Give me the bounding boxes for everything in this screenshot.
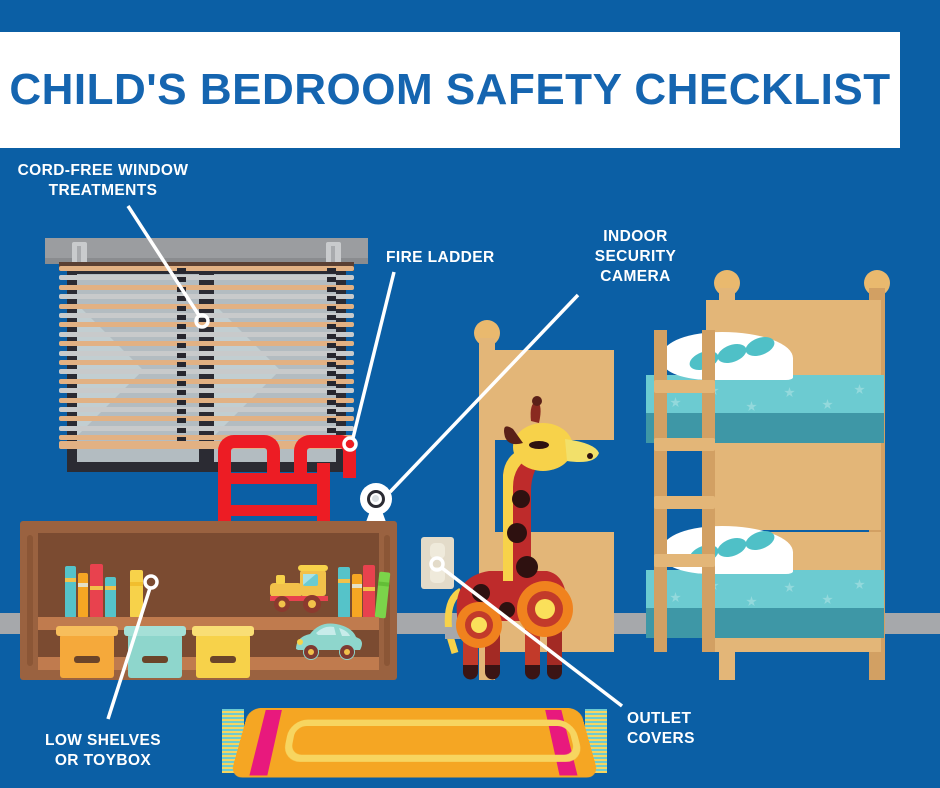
marker-shelves	[145, 576, 157, 588]
leader-cord-free	[128, 206, 200, 317]
leader-camera	[390, 295, 578, 492]
label-line: FIRE LADDER	[386, 248, 536, 268]
infographic-canvas: CHILD'S BEDROOM SAFETY CHECKLIST CORD-FR…	[0, 0, 940, 788]
label-line: OUTLET	[627, 709, 787, 729]
label-line: OR TOYBOX	[20, 751, 186, 771]
label-outlet-covers: OUTLET COVERS	[627, 709, 787, 749]
label-cord-free-window-treatments: CORD-FREE WINDOW TREATMENTS	[8, 161, 198, 201]
leader-fire-ladder	[353, 272, 394, 438]
leader-shelves	[108, 588, 150, 719]
label-line: TREATMENTS	[8, 181, 198, 201]
label-line: CORD-FREE WINDOW	[8, 161, 198, 181]
label-fire-ladder: FIRE LADDER	[386, 248, 536, 268]
marker-fire-ladder	[344, 438, 356, 450]
label-indoor-security-camera: INDOOR SECURITY CAMERA	[568, 227, 703, 287]
label-line: COVERS	[627, 729, 787, 749]
callout-leader-lines	[0, 0, 940, 788]
label-line: CAMERA	[568, 267, 703, 287]
marker-outlet	[431, 558, 443, 570]
label-low-shelves-or-toybox: LOW SHELVES OR TOYBOX	[20, 731, 186, 771]
leader-outlet	[442, 568, 622, 706]
label-line: INDOOR	[568, 227, 703, 247]
label-line: LOW SHELVES	[20, 731, 186, 751]
marker-cord-free	[196, 315, 208, 327]
label-line: SECURITY	[568, 247, 703, 267]
